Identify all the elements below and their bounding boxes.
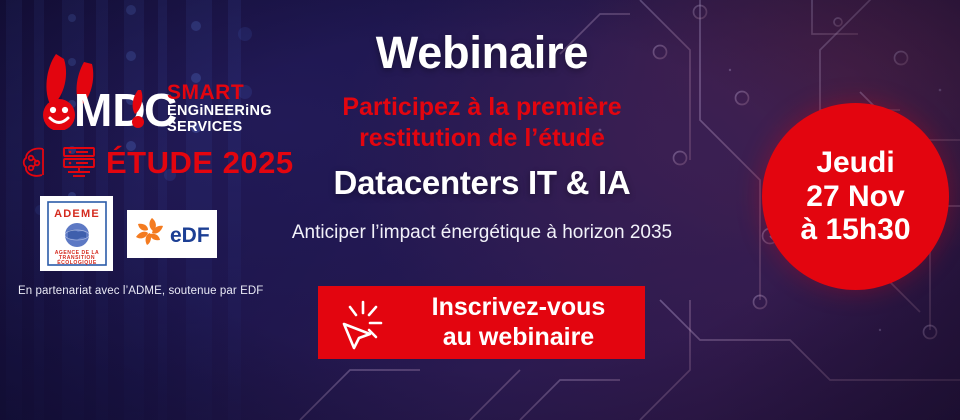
ademe-logo-art: ADEME AGENCE DE LA TRANSITION ÉCOLOGIQUE xyxy=(45,200,109,267)
register-webinar-label: Inscrivez-vous au webinaire xyxy=(398,293,645,352)
ademe-title: ADEME xyxy=(54,208,100,220)
rabbit-face xyxy=(43,99,75,130)
subheading-line-2: restitution de l’étude xyxy=(256,123,708,154)
mdc-accent-dot xyxy=(132,116,144,128)
rabbit-eye-right xyxy=(62,107,68,113)
page-title: Datacenters IT & IA xyxy=(256,166,708,199)
subheading: Participez à la première restitution de … xyxy=(256,92,708,153)
partner-logos: ADEME AGENCE DE LA TRANSITION ÉCOLOGIQUE xyxy=(40,196,217,271)
partnership-note: En partenariat avec l’ADME, soutenue par… xyxy=(18,285,263,297)
study-label-row: ÉTUDE 2025 xyxy=(22,146,294,178)
edf-pinwheel-icon xyxy=(136,218,163,245)
date-time: à 15h30 xyxy=(800,213,910,247)
cta-line-1: Inscrivez-vous xyxy=(432,293,606,321)
edf-logo: eDF xyxy=(127,210,217,258)
rabbit-eye-left xyxy=(50,107,56,113)
ademe-sub3: ÉCOLOGIQUE xyxy=(57,258,97,266)
cta-line-2: au webinaire xyxy=(443,323,594,351)
date-badge: Jeudi 27 Nov à 15h30 xyxy=(762,103,949,290)
subheading-line-1: Participez à la première xyxy=(256,92,708,123)
ray-upper-right xyxy=(369,307,376,315)
webinar-promo-banner: MD C SMART ENGiNEERiNG SERVICES xyxy=(0,0,960,420)
page-subtitle: Anticiper l’impact énergétique à horizon… xyxy=(256,223,708,242)
main-content: Webinaire Participez à la première resti… xyxy=(256,0,708,420)
eyebrow-heading: Webinaire xyxy=(256,30,708,75)
mdc-rabbit-logo: MD C xyxy=(26,52,176,130)
server-rack-icon xyxy=(61,146,97,178)
ademe-logo: ADEME AGENCE DE LA TRANSITION ÉCOLOGIQUE xyxy=(40,196,113,271)
edf-wordmark: eDF xyxy=(170,224,210,247)
edf-logo-art: eDF xyxy=(130,214,214,254)
click-cursor-icon xyxy=(332,296,388,352)
register-webinar-button[interactable]: Inscrivez-vous au webinaire xyxy=(318,286,645,359)
ai-brain-icon xyxy=(22,146,52,178)
ray-upper-left xyxy=(350,307,356,315)
brand-column: MD C SMART ENGiNEERiNG SERVICES xyxy=(0,0,300,420)
date-day: Jeudi xyxy=(816,146,894,180)
cursor-arrow xyxy=(344,324,370,348)
rabbit-ear-left xyxy=(46,54,66,106)
date-date: 27 Nov xyxy=(806,180,904,214)
mdc-logo-lockup: MD C SMART ENGiNEERiNG SERVICES xyxy=(26,52,276,130)
